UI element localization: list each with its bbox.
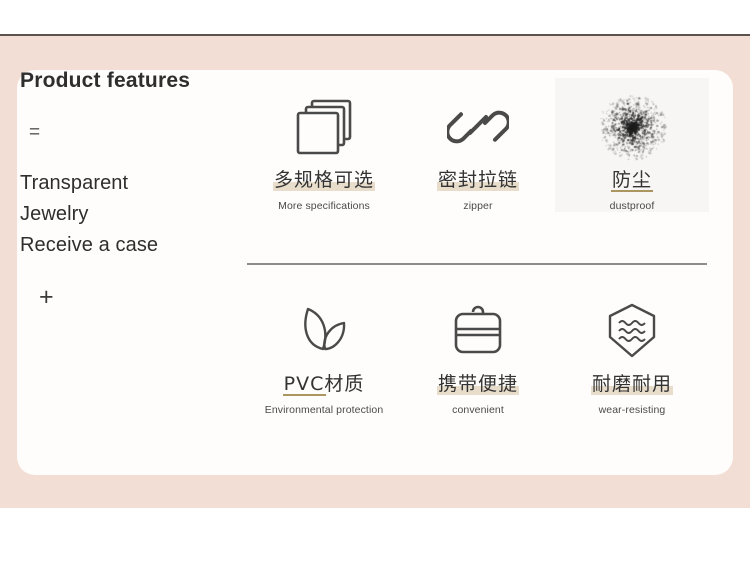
top-white-strip (0, 0, 750, 34)
feature-label-en: More specifications (278, 200, 370, 212)
bottom-white-strip (0, 508, 750, 564)
subtitle-block: Transparent Jewelry Receive a case (20, 168, 230, 261)
briefcase-icon (447, 294, 509, 368)
leaves-icon (292, 294, 356, 368)
plus-symbol: + (20, 285, 230, 310)
shield-waves-icon (601, 294, 663, 368)
feature-label-cn: 密封拉链 (438, 170, 518, 192)
feature-item-dustproof[interactable]: 防尘 dustproof (555, 78, 709, 212)
features-grid: 多规格可选 More specifications 密封拉链 zipper (247, 78, 709, 416)
feature-label-en: zipper (463, 200, 492, 212)
feature-item-wear-resisting[interactable]: 耐磨耐用 wear-resisting (555, 282, 709, 416)
chain-link-icon (447, 90, 509, 164)
feature-label-cn: 多规格可选 (274, 170, 374, 192)
feature-item-pvc-material[interactable]: PVC材质 Environmental protection (247, 282, 401, 416)
page-title: Product features (20, 68, 230, 93)
features-row-bottom: PVC材质 Environmental protection 携带便捷 conv… (247, 282, 709, 416)
feature-label-en: Environmental protection (265, 404, 384, 416)
feature-label-cn: PVC材质 (284, 374, 365, 396)
feature-item-zipper[interactable]: 密封拉链 zipper (401, 78, 555, 212)
left-text-column: Product features = Transparent Jewelry R… (20, 68, 230, 310)
feature-item-convenient[interactable]: 携带便捷 convenient (401, 282, 555, 416)
dust-particles-icon (595, 90, 669, 164)
feature-item-more-specifications[interactable]: 多规格可选 More specifications (247, 78, 401, 212)
subtitle-line-3: Receive a case (20, 230, 230, 261)
feature-label-cn: 耐磨耐用 (592, 374, 672, 396)
subtitle-line-1: Transparent (20, 168, 230, 199)
features-row-top: 多规格可选 More specifications 密封拉链 zipper (247, 78, 709, 212)
equals-symbol: = (20, 123, 230, 142)
feature-label-en: dustproof (610, 200, 655, 212)
feature-label-en: convenient (452, 404, 504, 416)
feature-label-cn: 携带便捷 (438, 374, 518, 396)
feature-label-cn: 防尘 (612, 170, 652, 192)
feature-label-en: wear-resisting (599, 404, 666, 416)
stacked-squares-icon (293, 90, 355, 164)
subtitle-line-2: Jewelry (20, 199, 230, 230)
row-divider (247, 263, 707, 265)
